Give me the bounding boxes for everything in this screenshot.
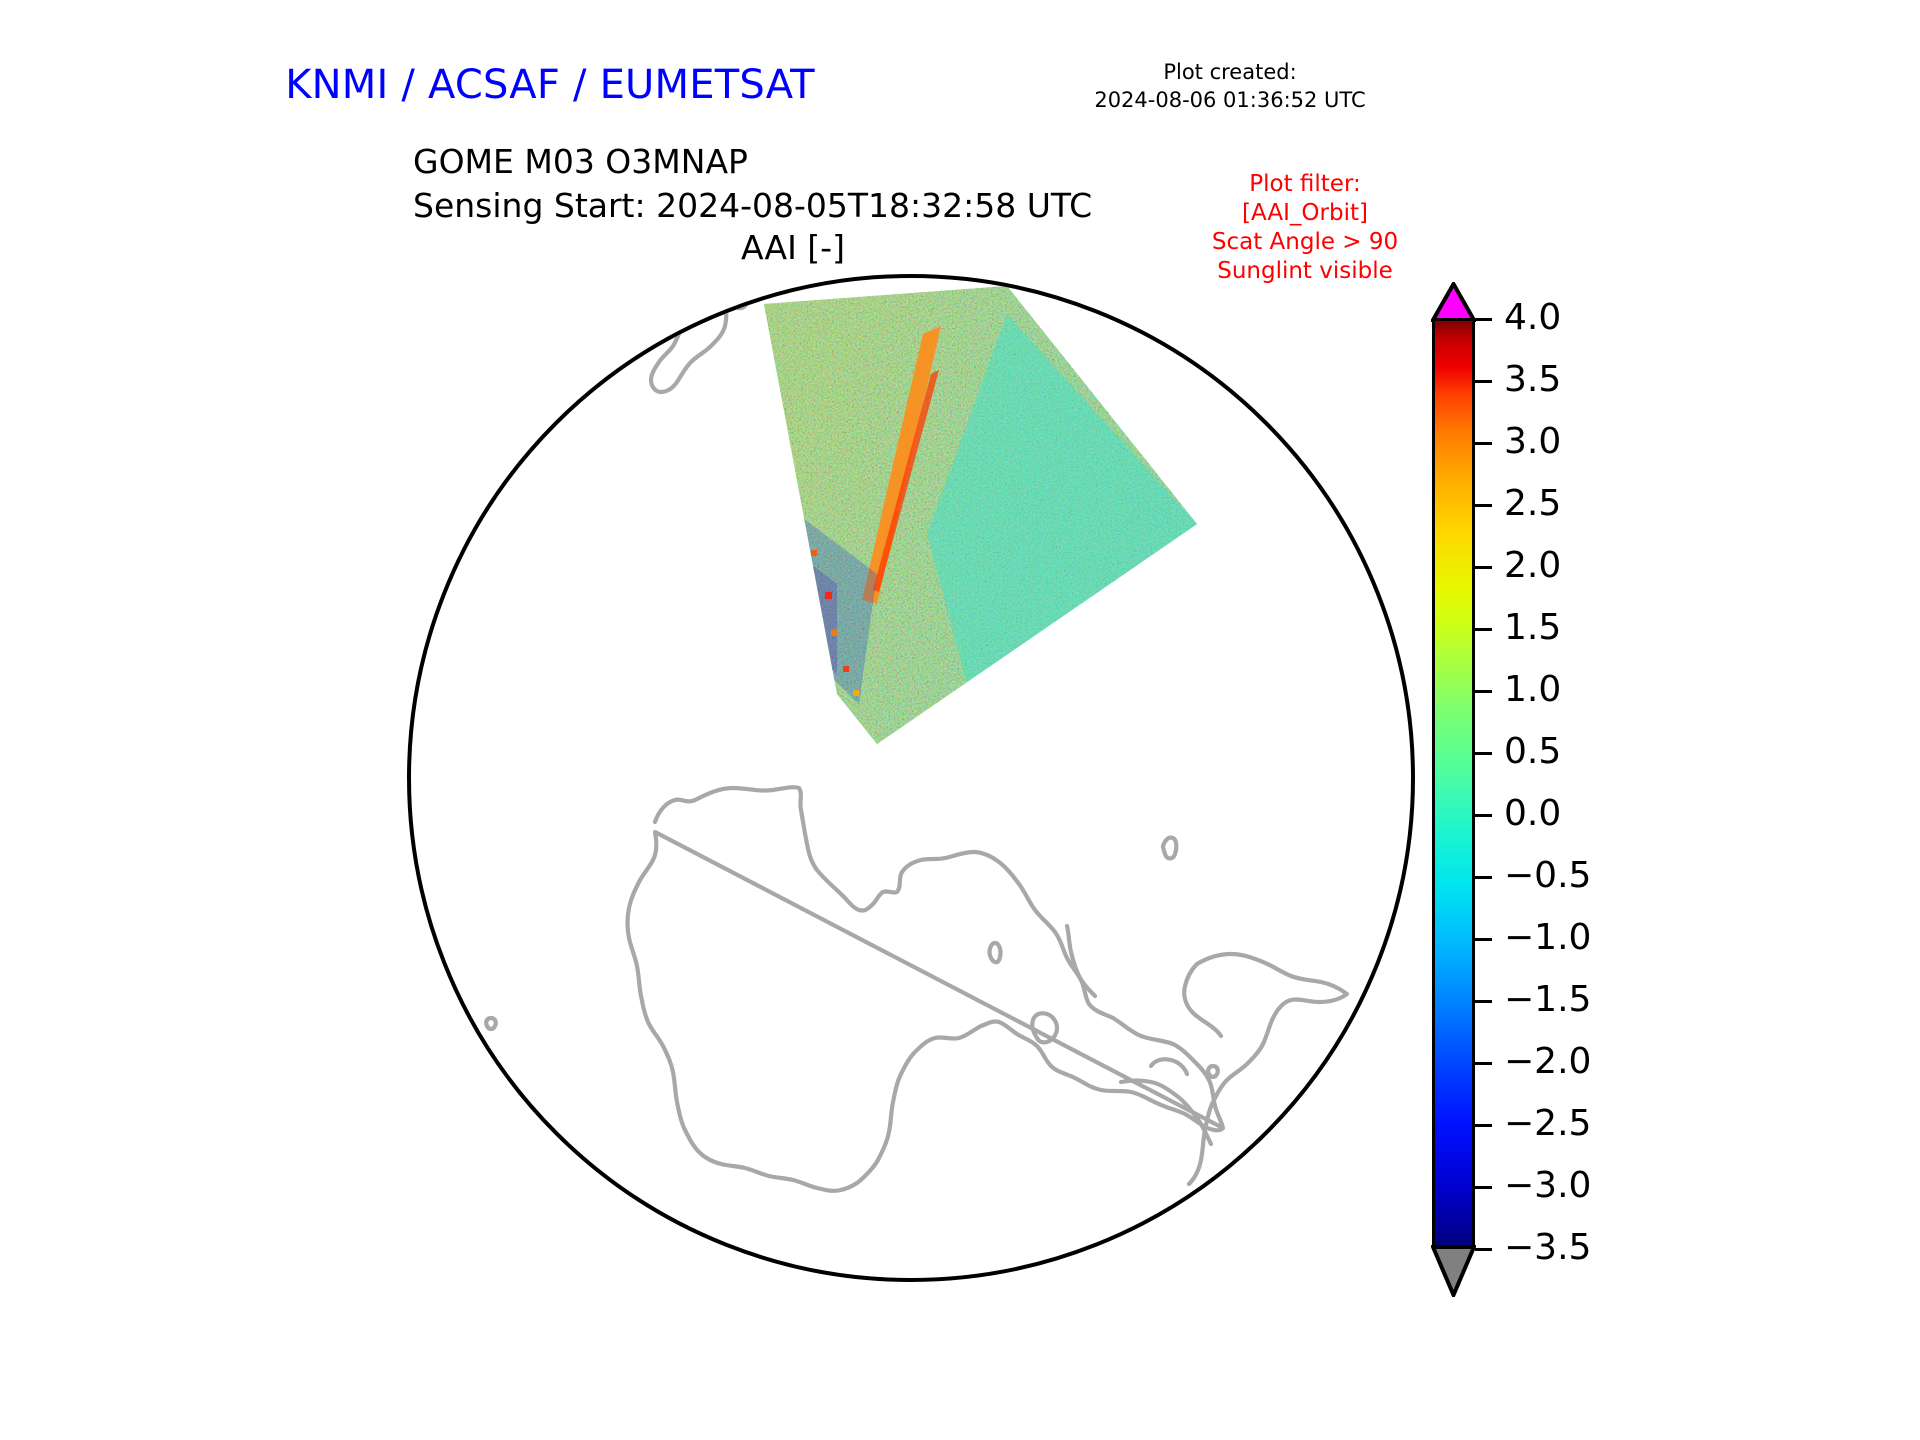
plot-filter-scat-angle: Scat Angle > 90 bbox=[1160, 228, 1450, 257]
plot-created-label: Plot created: bbox=[1060, 58, 1400, 86]
coastline-peninsula-arm bbox=[1121, 1081, 1211, 1145]
colorbar-tick-mark bbox=[1475, 1062, 1492, 1065]
colorbar-tick-mark bbox=[1475, 690, 1492, 693]
colorbar-tick-mark bbox=[1475, 628, 1492, 631]
colorbar-tick-label: 2.0 bbox=[1504, 548, 1561, 584]
colorbar-tick-mark bbox=[1475, 1186, 1492, 1189]
sensing-start-line: Sensing Start: 2024-08-05T18:32:58 UTC bbox=[413, 184, 1173, 228]
instrument-product-line: GOME M03 O3MNAP bbox=[413, 140, 1173, 184]
colorbar-tick-label: 0.0 bbox=[1504, 796, 1561, 832]
colorbar-tick-label: 1.0 bbox=[1504, 672, 1561, 708]
product-info-block: GOME M03 O3MNAP Sensing Start: 2024-08-0… bbox=[413, 140, 1173, 228]
colorbar: 4.03.53.02.52.01.51.00.50.0−0.5−1.0−1.5−… bbox=[1432, 283, 1892, 1299]
colorbar-over-range-arrow bbox=[1431, 282, 1476, 322]
plot-created-timestamp: 2024-08-06 01:36:52 UTC bbox=[1060, 86, 1400, 114]
colorbar-tick-mark bbox=[1475, 938, 1492, 941]
colorbar-tick-mark bbox=[1475, 318, 1492, 321]
plot-created-block: Plot created: 2024-08-06 01:36:52 UTC bbox=[1060, 58, 1400, 114]
colorbar-tick-mark bbox=[1475, 752, 1492, 755]
coastlines-layer bbox=[407, 274, 1415, 1282]
plot-filter-label: Plot filter: bbox=[1160, 170, 1450, 199]
colorbar-tick-label: −2.0 bbox=[1504, 1044, 1591, 1080]
colorbar-under-range-arrow bbox=[1431, 1245, 1476, 1297]
colorbar-tick-mark bbox=[1475, 814, 1492, 817]
colorbar-tick-label: 3.5 bbox=[1504, 362, 1561, 398]
colorbar-tick-label: 1.5 bbox=[1504, 610, 1561, 646]
plot-filter-block: Plot filter: [AAI_Orbit] Scat Angle > 90… bbox=[1160, 170, 1450, 286]
coastline-tasmania bbox=[452, 379, 492, 419]
coastline-antarctica bbox=[628, 787, 1224, 1191]
colorbar-tick-label: −3.0 bbox=[1504, 1168, 1591, 1204]
colorbar-tick-label: −1.0 bbox=[1504, 920, 1591, 956]
colorbar-tick-label: 0.5 bbox=[1504, 734, 1561, 770]
coastline-falklands bbox=[1208, 1066, 1218, 1077]
colorbar-tick-label: 2.5 bbox=[1504, 486, 1561, 522]
coastline-south-america bbox=[1189, 954, 1347, 1184]
organisation-title: KNMI / ACSAF / EUMETSAT bbox=[0, 62, 1100, 108]
plot-filter-dataset: [AAI_Orbit] bbox=[1160, 199, 1450, 228]
polar-map bbox=[407, 274, 1415, 1282]
colorbar-tick-label: 3.0 bbox=[1504, 424, 1561, 460]
coastline-new-zealand bbox=[651, 284, 726, 392]
coastline-south-america-west bbox=[1184, 964, 1221, 1036]
coastline-new-zealand-north bbox=[725, 274, 748, 308]
coastline-island-left bbox=[486, 1018, 496, 1029]
colorbar-tick-mark bbox=[1475, 876, 1492, 879]
colorbar-tick-mark bbox=[1475, 1000, 1492, 1003]
colorbar-tick-label: 4.0 bbox=[1504, 300, 1561, 336]
colorbar-tick-mark bbox=[1475, 504, 1492, 507]
coastline-island-small-1 bbox=[990, 943, 1001, 962]
colorbar-tick-mark bbox=[1475, 1248, 1492, 1251]
colorbar-tick-label: −3.5 bbox=[1504, 1230, 1591, 1266]
colorbar-tick-mark bbox=[1475, 566, 1492, 569]
coastline-australia-edge bbox=[407, 344, 455, 384]
coastline-island-chain bbox=[1163, 837, 1176, 858]
coastline-small-bay bbox=[1032, 1013, 1057, 1042]
colorbar-tick-label: −2.5 bbox=[1504, 1106, 1591, 1142]
colorbar-tick-label: −1.5 bbox=[1504, 982, 1591, 1018]
colorbar-tick-mark bbox=[1475, 380, 1492, 383]
colorbar-gradient bbox=[1432, 318, 1475, 1248]
colorbar-tick-mark bbox=[1475, 1124, 1492, 1127]
variable-title: AAI [-] bbox=[413, 228, 1173, 267]
colorbar-tick-label: −0.5 bbox=[1504, 858, 1591, 894]
coastline-ross-inlet bbox=[1151, 1059, 1187, 1074]
colorbar-tick-mark bbox=[1475, 442, 1492, 445]
